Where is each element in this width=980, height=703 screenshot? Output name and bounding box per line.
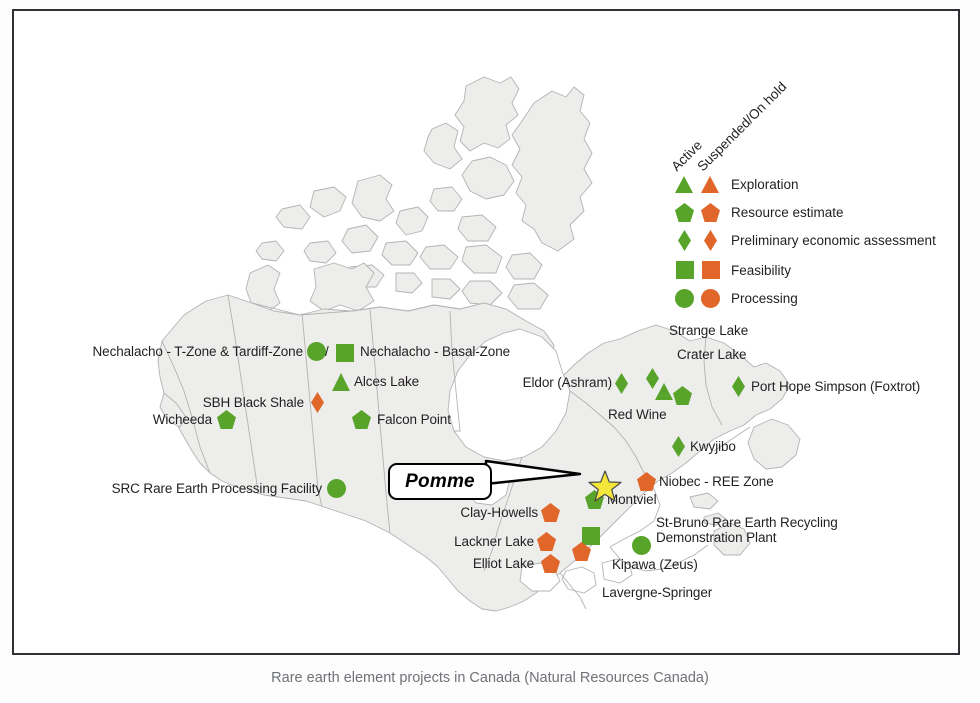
project-label-crater-lake: Crater Lake	[677, 347, 746, 362]
project-label-lavergne-springer: Lavergne-Springer	[602, 585, 712, 600]
project-label-falcon-point: Falcon Point	[377, 412, 451, 427]
project-marker-alces-lake[interactable]	[332, 373, 350, 391]
nechalacho-separator: /	[325, 344, 329, 359]
project-label-src-facility: SRC Rare Earth Processing Facility	[106, 481, 322, 496]
project-marker-nechalacho-basal-zone[interactable]	[336, 344, 354, 362]
project-label-red-wine: Red Wine	[608, 407, 666, 422]
legend-label-resource-estimate: Resource estimate	[731, 205, 844, 220]
project-label-strange-lake: Strange Lake	[669, 323, 748, 338]
project-label-st-bruno: St-Bruno Rare Earth Recycling Demonstrat…	[656, 516, 842, 545]
project-label-kwyjibo: Kwyjibo	[690, 439, 736, 454]
project-label-sbh-black-shale: SBH Black Shale	[174, 395, 304, 410]
project-marker-src-facility[interactable]	[327, 479, 346, 498]
project-marker-kipawa-zeus[interactable]	[582, 527, 600, 545]
legend-diamond-suspended-icon	[704, 230, 717, 251]
legend-circle-active-icon	[675, 289, 694, 308]
project-label-lackner-lake: Lackner Lake	[410, 534, 534, 549]
legend-header-suspended: Suspended/On hold	[694, 79, 789, 174]
project-label-clay-howells: Clay-Howells	[414, 505, 538, 520]
legend-label-pea: Preliminary economic assessment	[731, 233, 936, 248]
pomme-star-marker[interactable]	[588, 470, 622, 509]
legend-label-feasibility: Feasibility	[731, 263, 791, 278]
project-label-alces-lake: Alces Lake	[354, 374, 419, 389]
project-label-wicheeda: Wicheeda	[124, 412, 212, 427]
project-label-nechalacho-basal-zone: Nechalacho - Basal-Zone	[360, 344, 510, 359]
legend-diamond-active-icon	[678, 230, 691, 251]
project-label-nechalacho-t-zone: Nechalacho - T-Zone & Tardiff-Zone	[78, 344, 303, 359]
legend: Active Suspended/On hold Exploration Res…	[659, 51, 959, 301]
legend-circle-suspended-icon	[701, 289, 720, 308]
project-label-port-hope-simpson: Port Hope Simpson (Foxtrot)	[751, 379, 920, 394]
pomme-callout[interactable]: Pomme	[388, 463, 492, 500]
legend-triangle-active-icon	[675, 176, 693, 193]
pomme-callout-label: Pomme	[388, 463, 492, 500]
project-label-kipawa-zeus: Kipawa (Zeus)	[612, 557, 698, 572]
legend-square-active-icon	[676, 261, 694, 279]
figure-frame: Active Suspended/On hold Exploration Res…	[12, 9, 960, 655]
legend-label-processing: Processing	[731, 291, 798, 306]
figure-caption: Rare earth element projects in Canada (N…	[0, 670, 980, 686]
project-label-eldor-ashram: Eldor (Ashram)	[506, 375, 612, 390]
legend-label-exploration: Exploration	[731, 177, 799, 192]
legend-square-suspended-icon	[702, 261, 720, 279]
legend-pentagon-active-icon	[675, 203, 694, 222]
legend-pentagon-suspended-icon	[701, 203, 720, 222]
project-marker-crater-lake[interactable]	[655, 383, 673, 400]
project-label-elliot-lake: Elliot Lake	[418, 556, 534, 571]
project-label-niobec-ree-zone: Niobec - REE Zone	[659, 474, 774, 489]
legend-triangle-suspended-icon	[701, 176, 719, 193]
project-marker-nechalacho-t-zone[interactable]	[307, 342, 326, 361]
project-marker-st-bruno[interactable]	[632, 536, 651, 555]
